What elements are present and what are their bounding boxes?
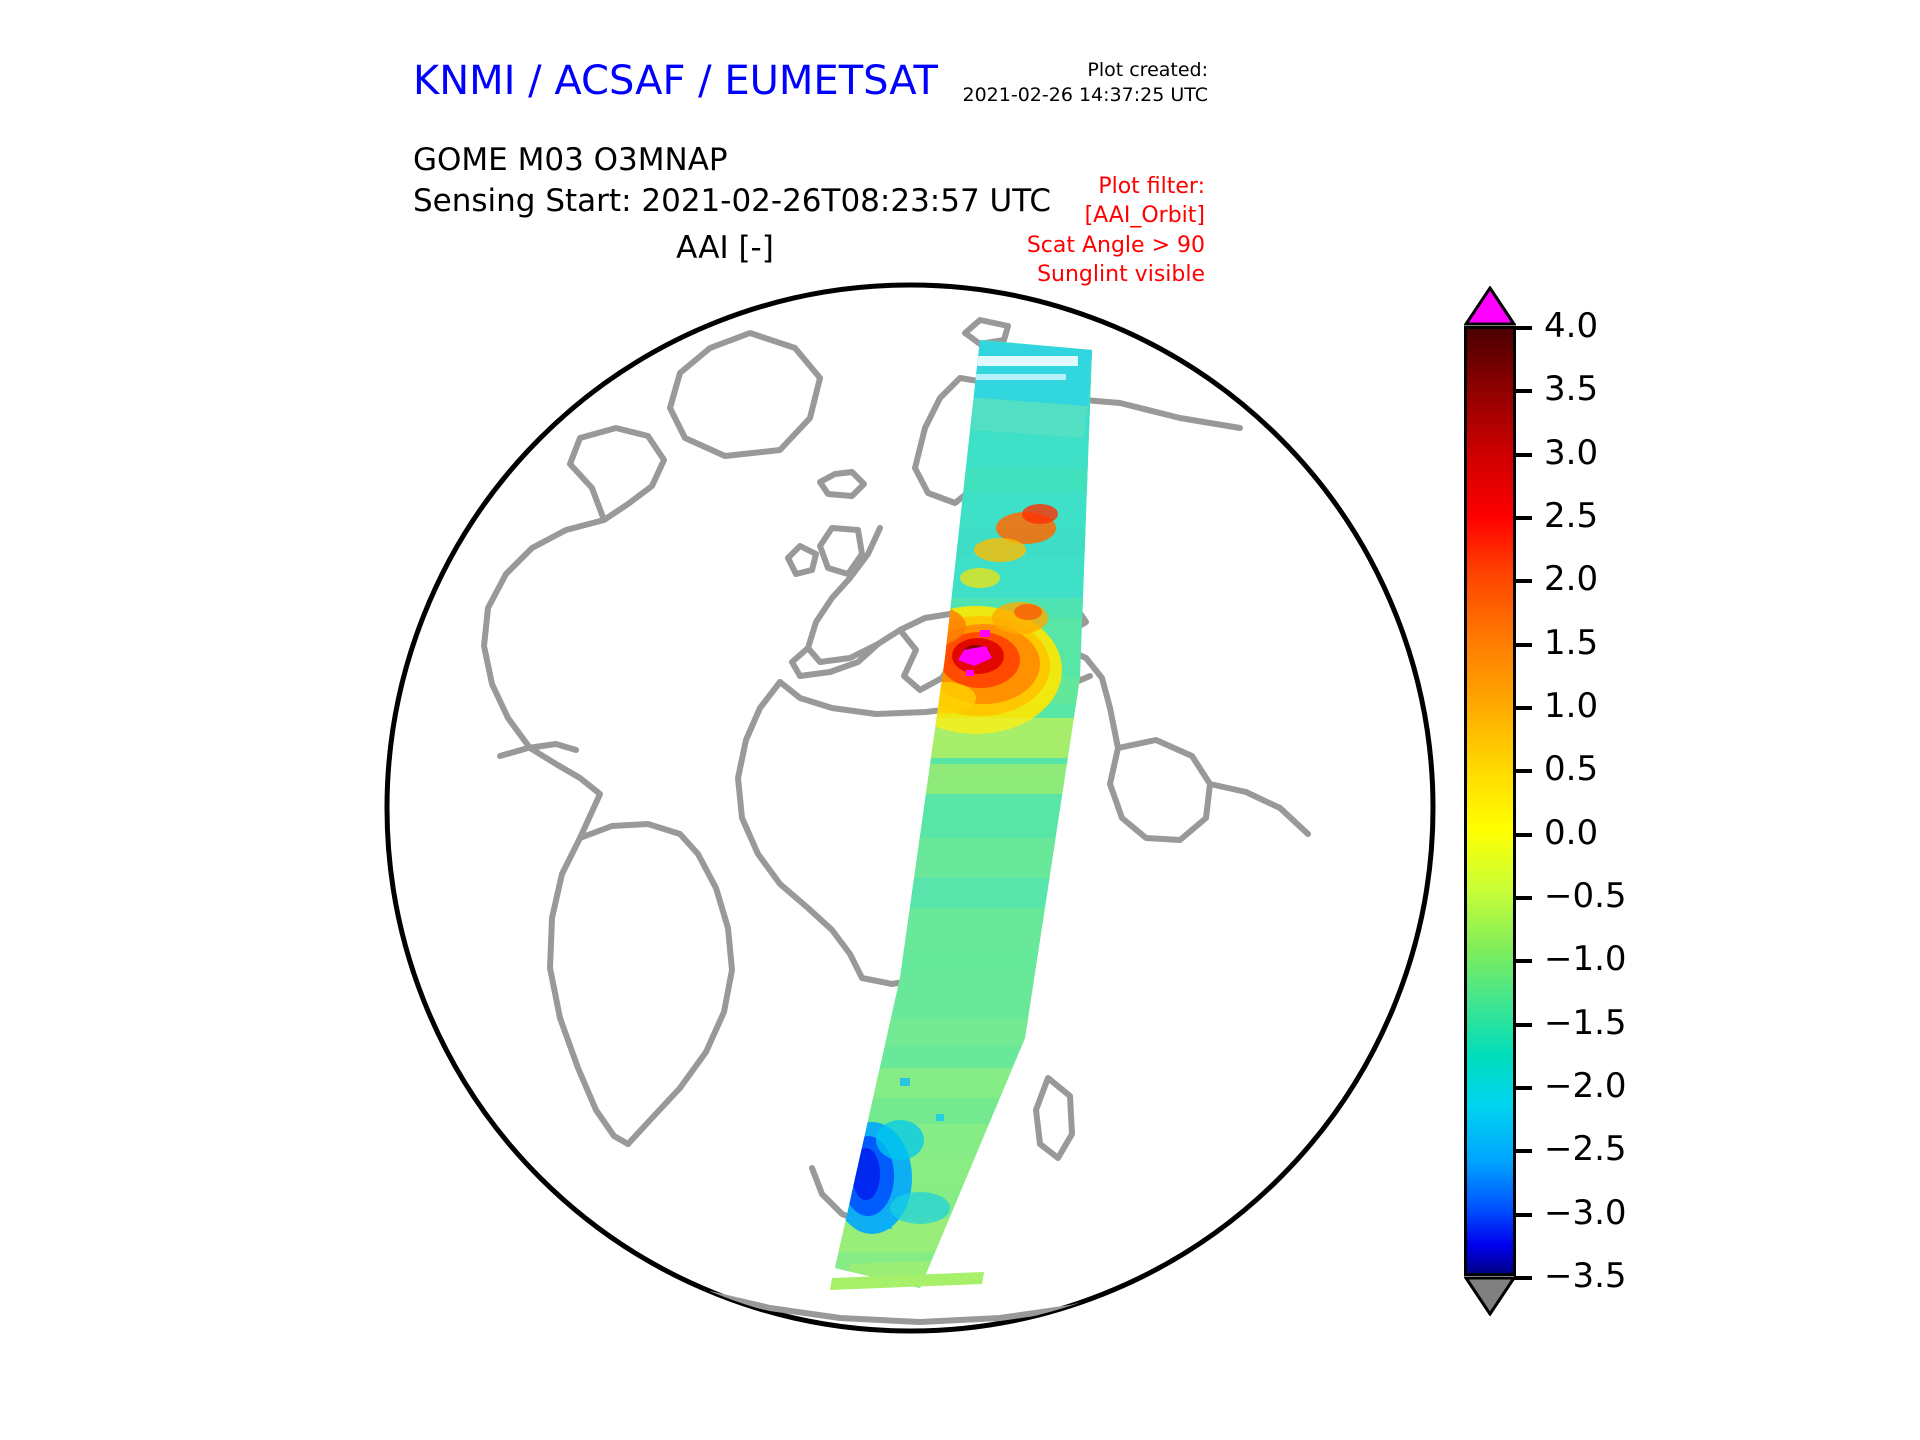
colorbar-label: 0.5: [1544, 752, 1598, 786]
colorbar-tick: [1514, 1023, 1532, 1027]
colorbar-label: −3.0: [1544, 1196, 1627, 1230]
colorbar-label: −1.0: [1544, 942, 1627, 976]
plot-filter-name: [AAI_Orbit]: [1027, 201, 1205, 230]
plot-filter-label: Plot filter:: [1027, 172, 1205, 201]
plot-created-timestamp: 2021-02-26 14:37:25 UTC: [963, 83, 1209, 108]
colorbar-label: 3.5: [1544, 372, 1598, 406]
organisation-title: KNMI / ACSAF / EUMETSAT: [413, 58, 938, 104]
colorbar-label: −1.5: [1544, 1006, 1627, 1040]
colorbar-tick: [1514, 326, 1532, 330]
colorbar-tick: [1514, 579, 1532, 583]
sensing-start: Sensing Start: 2021-02-26T08:23:57 UTC: [413, 181, 1051, 222]
colorbar-label: 2.5: [1544, 499, 1598, 533]
colorbar-label: 1.5: [1544, 626, 1598, 660]
colorbar-tick: [1514, 516, 1532, 520]
colorbar-label: −2.5: [1544, 1132, 1627, 1166]
plot-created-label: Plot created:: [963, 58, 1209, 83]
colorbar-tick: [1514, 643, 1532, 647]
colorbar: 4.0 3.5 3.0 2.5 2.0 1.5 1.0 0.5 0.0 −0.5…: [1448, 286, 1748, 1316]
colorbar-label: 3.0: [1544, 436, 1598, 470]
colorbar-label: −2.0: [1544, 1069, 1627, 1103]
colorbar-tick: [1514, 1276, 1532, 1280]
colorbar-label: 2.0: [1544, 562, 1598, 596]
map-area: [380, 278, 1440, 1338]
product-block: GOME M03 O3MNAP Sensing Start: 2021-02-2…: [413, 140, 1051, 222]
plot-created-block: Plot created: 2021-02-26 14:37:25 UTC: [963, 58, 1209, 108]
colorbar-tick: [1514, 1086, 1532, 1090]
colorbar-tick: [1514, 833, 1532, 837]
variable-title: AAI [-]: [0, 230, 1450, 266]
colorbar-under-arrow: [1464, 1276, 1516, 1316]
colorbar-tick: [1514, 1213, 1532, 1217]
colorbar-gradient: [1464, 326, 1516, 1276]
globe-map: [380, 278, 1440, 1338]
colorbar-tick: [1514, 896, 1532, 900]
colorbar-tick: [1514, 769, 1532, 773]
colorbar-tick: [1514, 389, 1532, 393]
colorbar-label: 1.0: [1544, 689, 1598, 723]
colorbar-over-arrow: [1464, 286, 1516, 326]
colorbar-tick: [1514, 706, 1532, 710]
colorbar-label: −0.5: [1544, 879, 1627, 913]
colorbar-tick: [1514, 453, 1532, 457]
colorbar-tick: [1514, 959, 1532, 963]
product-name: GOME M03 O3MNAP: [413, 140, 1051, 181]
colorbar-label: 4.0: [1544, 309, 1598, 343]
colorbar-label: −3.5: [1544, 1259, 1627, 1293]
colorbar-tick: [1514, 1149, 1532, 1153]
colorbar-label: 0.0: [1544, 816, 1598, 850]
plot-filter-scat-angle: Scat Angle > 90: [1027, 231, 1205, 260]
plot-filter-block: Plot filter: [AAI_Orbit] Scat Angle > 90…: [1027, 172, 1205, 289]
